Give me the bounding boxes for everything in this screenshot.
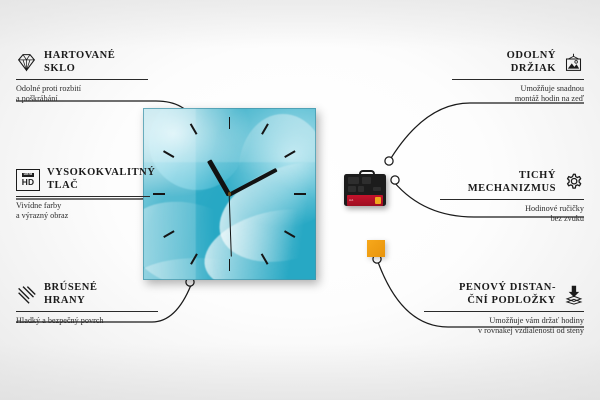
feature-description: Odolné proti rozbití a poškrábání xyxy=(16,84,148,104)
feature-description: Umožňuje snadnou montáž hodin na zeď xyxy=(452,84,584,104)
feature-silent-mechanism: TICHÝ MECHANIZMUS Hodinové ručičky bez z… xyxy=(440,170,584,224)
feature-title: BRÚSENÉ HRANY xyxy=(44,282,97,307)
feature-description: Hodinové ručičky bez zvuku xyxy=(440,204,584,224)
feature-title: PENOVÝ DISTAN- ČNÍ PODLOŽKY xyxy=(459,282,556,307)
clock-tick xyxy=(229,117,231,129)
feature-hd-print: ultra HD VYSOKOKVALITNÝ TLAČ Vivídne far… xyxy=(16,167,150,221)
clock-tick xyxy=(229,259,231,271)
endpoint-dot-hanger xyxy=(385,157,393,165)
feature-title: ODOLNÝ DRŽIAK xyxy=(507,50,556,75)
feature-foam-spacers: PENOVÝ DISTAN- ČNÍ PODLOŽKY Umožňuje vám… xyxy=(424,282,584,336)
mechanism-battery: AA xyxy=(347,195,383,206)
connector-hanger xyxy=(388,103,584,163)
mechanism-body: AA xyxy=(344,174,386,206)
ultra-hd-badge-icon: ultra HD xyxy=(16,169,40,191)
clock-mechanism: AA xyxy=(344,170,386,206)
feature-title: TICHÝ MECHANIZMUS xyxy=(468,170,556,195)
feature-divider xyxy=(424,311,584,312)
endpoint-dot-silent-mechanism xyxy=(391,176,399,184)
ultra-hd-badge-main-label: HD xyxy=(22,178,35,186)
diamond-icon xyxy=(16,52,37,73)
feature-description: Hladký a bezpečný povrch xyxy=(16,316,158,326)
clock-tick xyxy=(153,193,165,195)
stacked-arrow-down-icon xyxy=(563,284,584,305)
feature-description: Umožňuje vám držať hodiny v rovnakej vzd… xyxy=(424,316,584,336)
infographic-canvas: AA HARTOVANÉ SKLO Odolné proti rozbití a… xyxy=(0,0,600,400)
feature-divider xyxy=(16,311,158,312)
product-clock-image xyxy=(143,108,316,280)
feature-divider xyxy=(16,79,148,80)
feature-description: Vivídne farby a výrazný obraz xyxy=(16,201,150,221)
feature-divider xyxy=(16,196,150,197)
clock-tick xyxy=(294,193,306,195)
feature-durable-hanger: ODOLNÝ DRŽIAK Umožňuje snadnou montáž ho… xyxy=(452,50,584,104)
clock-center-pin xyxy=(228,192,231,195)
feature-title: VYSOKOKVALITNÝ TLAČ xyxy=(47,167,155,192)
feature-divider xyxy=(440,199,584,200)
feature-ground-edges: BRÚSENÉ HRANY Hladký a bezpečný povrch xyxy=(16,282,158,326)
feature-divider xyxy=(452,79,584,80)
diagonal-lines-icon xyxy=(16,284,37,305)
foam-spacer-pad xyxy=(367,240,385,257)
feature-tempered-glass: HARTOVANÉ SKLO Odolné proti rozbití a po… xyxy=(16,50,148,104)
picture-hanger-icon xyxy=(563,52,584,73)
feature-title: HARTOVANÉ SKLO xyxy=(44,50,115,75)
gear-icon xyxy=(563,172,584,193)
